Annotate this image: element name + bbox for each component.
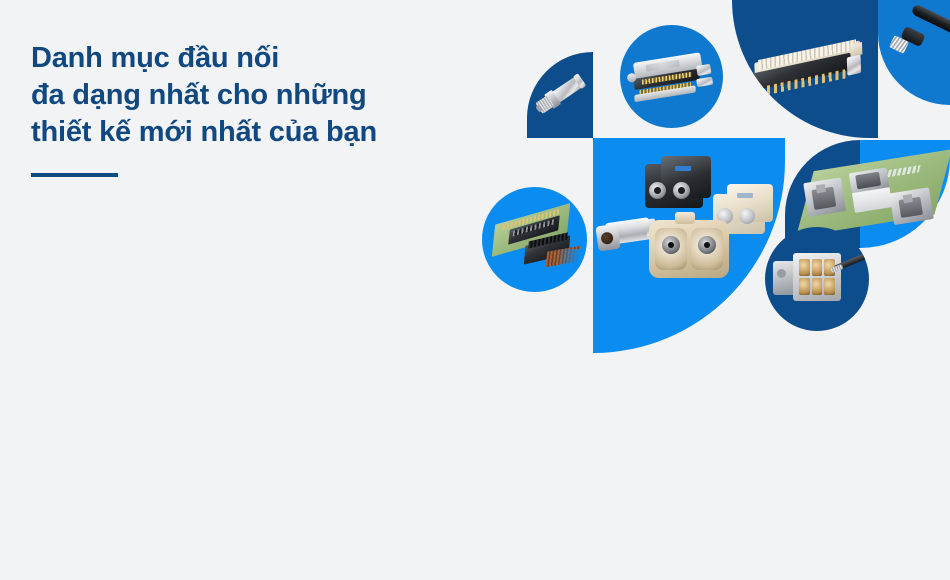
product-collage	[470, 0, 950, 370]
rj45-jack-left	[803, 177, 848, 221]
heavy-duty-rectangular-connector	[771, 249, 869, 311]
board-to-board-and-flex-connector	[486, 203, 586, 279]
usb-type-c-receptacle	[623, 48, 722, 112]
connector-catalog-banner: Danh mục đầu nối đa dạng nhất cho những …	[0, 0, 950, 580]
automotive-fakra-hsd-connector-group	[593, 150, 785, 335]
tile-board-to-board[interactable]	[482, 187, 587, 292]
hsd-black-connector	[645, 156, 713, 214]
ffc-fpc-zif-connector	[748, 37, 867, 115]
headline-underline-rule	[31, 173, 118, 177]
overmolded-cable-assembly	[888, 10, 950, 70]
headline-block: Danh mục đầu nối đa dạng nhất cho những …	[31, 40, 471, 177]
rj45-jack-right	[889, 187, 936, 231]
tile-ffc-fpc[interactable]	[732, 0, 878, 138]
tile-heavy-duty[interactable]	[765, 227, 869, 331]
tile-usb-c[interactable]	[620, 25, 723, 128]
page-title: Danh mục đầu nối đa dạng nhất cho những …	[31, 40, 471, 151]
tile-automotive-group[interactable]	[593, 138, 785, 353]
tile-rf-sma[interactable]	[527, 52, 593, 138]
fakra-dual-port-housing	[649, 212, 729, 284]
rj45-jack-center	[849, 167, 895, 217]
tile-cable-assembly[interactable]	[878, 0, 950, 105]
rf-coaxial-sma-connector	[527, 62, 593, 127]
